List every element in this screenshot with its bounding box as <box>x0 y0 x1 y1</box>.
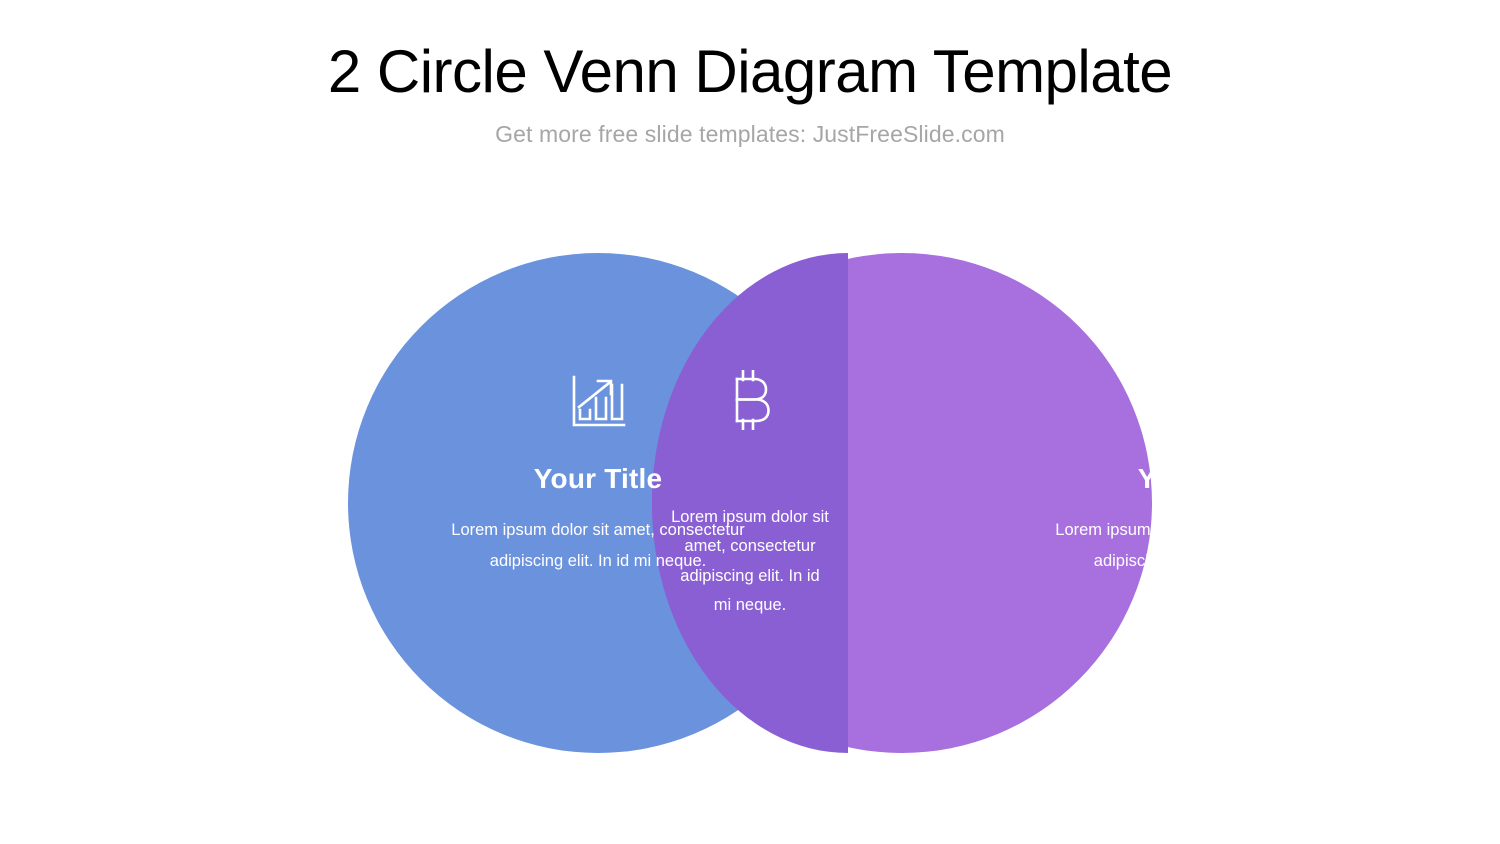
binoculars-icon <box>1172 371 1232 433</box>
slide-canvas: 2 Circle Venn Diagram Template Get more … <box>0 0 1500 844</box>
venn-diagram: Your Title Lorem ipsum dolor sit amet, c… <box>348 253 1152 753</box>
venn-section-left-title: Your Title <box>534 465 663 493</box>
venn-section-overlap-body: Lorem ipsum dolor sit amet, consectetur … <box>670 503 830 620</box>
venn-section-overlap: Lorem ipsum dolor sit amet, consectetur … <box>662 253 838 753</box>
slide-subtitle: Get more free slide templates: JustFreeS… <box>0 121 1500 148</box>
venn-section-right-title: Your Title <box>1138 465 1267 493</box>
bar-chart-growth-icon <box>569 371 627 433</box>
bitcoin-icon <box>728 369 772 431</box>
slide-header: 2 Circle Venn Diagram Template Get more … <box>0 40 1500 148</box>
venn-section-right-body: Lorem ipsum dolor sit amet, consectetur … <box>1052 515 1352 576</box>
venn-section-right: Your Title Lorem ipsum dolor sit amet, c… <box>982 253 1422 753</box>
page-title: 2 Circle Venn Diagram Template <box>0 40 1500 105</box>
